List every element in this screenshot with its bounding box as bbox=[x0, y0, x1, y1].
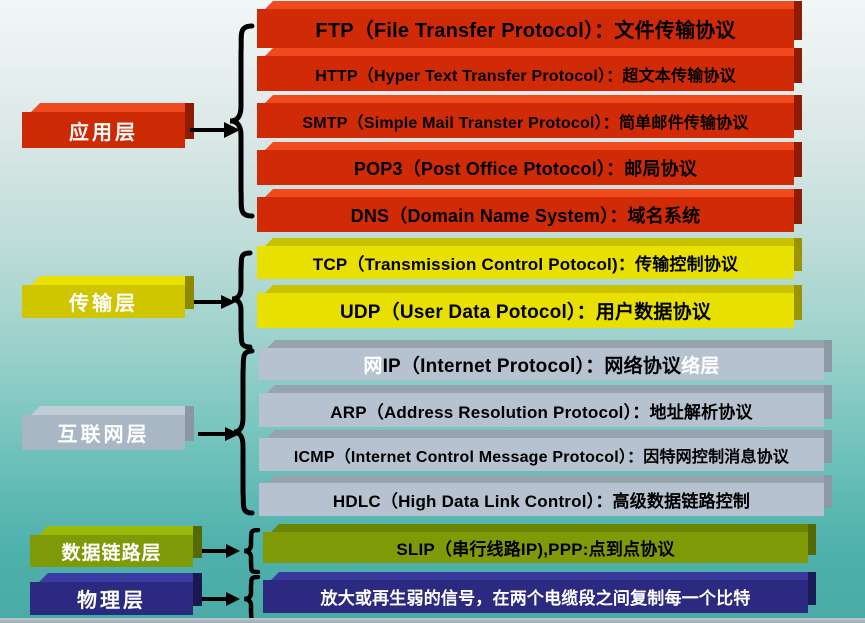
protocol-bar-icmp: ICMP（Internet Control Message Protocol）：… bbox=[259, 438, 824, 471]
layer-label-physical: 物理层 bbox=[30, 582, 193, 615]
layer-label-transport: 传输层 bbox=[22, 285, 185, 318]
protocol-bar-tcp: TCP（Transmission Control Potocol)：传输控制协议 bbox=[257, 246, 794, 279]
layer-label-text: 互联网层 bbox=[58, 418, 150, 447]
bottom-divider bbox=[0, 618, 865, 623]
protocol-bar-udp: UDP（User Data Potocol）：用户数据协议 bbox=[257, 293, 794, 328]
protocol-text: ICMP（Internet Control Message Protocol）：… bbox=[294, 443, 789, 467]
layer-label-text: 传输层 bbox=[69, 287, 138, 316]
brace-internet bbox=[230, 348, 256, 516]
protocol-text: SLIP（串行线路IP),PPP:点到点协议 bbox=[396, 535, 674, 560]
layer-label-text: 物理层 bbox=[77, 584, 146, 613]
protocol-bar-ftp: FTP（File Transfer Protocol）：文件传输协议 bbox=[257, 9, 794, 48]
protocol-bar-ip: 网IP（Internet Protocol）：网络协议络层 bbox=[259, 348, 824, 380]
protocol-text: POP3（Post Office Ptotocol）：邮局协议 bbox=[354, 155, 697, 181]
protocol-text-suffix: 络层 bbox=[681, 356, 719, 377]
layer-label-internet: 互联网层 bbox=[22, 415, 185, 450]
protocol-text: SMTP（Simple Mail Transter Protocol）：简单邮件… bbox=[302, 109, 748, 133]
protocol-bar-http: HTTP（Hyper Text Transfer Protocol）：超文本传输… bbox=[257, 56, 794, 91]
protocol-bar-arp: ARP（Address Resolution Protocol）：地址解析协议 bbox=[259, 393, 824, 427]
protocol-bar-hdlc: HDLC（High Data Link Control）：高级数据链路控制 bbox=[259, 483, 824, 516]
protocol-text: ARP（Address Resolution Protocol）：地址解析协议 bbox=[330, 398, 752, 423]
brace-transport bbox=[228, 250, 254, 350]
protocol-text: HDLC（High Data Link Control）：高级数据链路控制 bbox=[333, 487, 750, 512]
protocol-bar-pop3: POP3（Post Office Ptotocol）：邮局协议 bbox=[257, 150, 794, 185]
protocol-text: 网IP（Internet Protocol）：网络协议络层 bbox=[363, 351, 719, 378]
layer-label-datalink: 数据链路层 bbox=[30, 535, 193, 567]
protocol-text: HTTP（Hyper Text Transfer Protocol）：超文本传输… bbox=[315, 62, 736, 86]
protocol-stack-diagram: 应用层 FTP（File Transfer Protocol）：文件传输协议 H… bbox=[0, 0, 865, 623]
protocol-text-main: IP（Internet Protocol）：网络协议 bbox=[383, 356, 682, 377]
brace-application bbox=[226, 22, 256, 220]
arrow-datalink bbox=[200, 538, 240, 564]
protocol-bar-smtp: SMTP（Simple Mail Transter Protocol）：简单邮件… bbox=[257, 103, 794, 138]
arrow-physical bbox=[200, 586, 240, 612]
protocol-bar-slip: SLIP（串行线路IP),PPP:点到点协议 bbox=[263, 532, 808, 563]
protocol-bar-dns: DNS（Domain Name System）：域名系统 bbox=[257, 197, 794, 232]
brace-datalink bbox=[240, 528, 262, 574]
protocol-text: FTP（File Transfer Protocol）：文件传输协议 bbox=[315, 14, 735, 43]
layer-label-text: 应用层 bbox=[69, 116, 138, 145]
protocol-text: TCP（Transmission Control Potocol)：传输控制协议 bbox=[313, 250, 738, 275]
protocol-bar-physical-description: 放大或再生弱的信号，在两个电缆段之间复制每一个比特 bbox=[263, 580, 808, 613]
brace-physical bbox=[240, 575, 262, 623]
protocol-text: DNS（Domain Name System）：域名系统 bbox=[351, 202, 701, 228]
layer-label-text: 数据链路层 bbox=[61, 538, 161, 565]
protocol-text: UDP（User Data Potocol）：用户数据协议 bbox=[340, 297, 711, 324]
protocol-text-prefix: 网 bbox=[363, 356, 382, 377]
protocol-text: 放大或再生弱的信号，在两个电缆段之间复制每一个比特 bbox=[321, 584, 751, 609]
layer-label-application: 应用层 bbox=[22, 112, 185, 148]
